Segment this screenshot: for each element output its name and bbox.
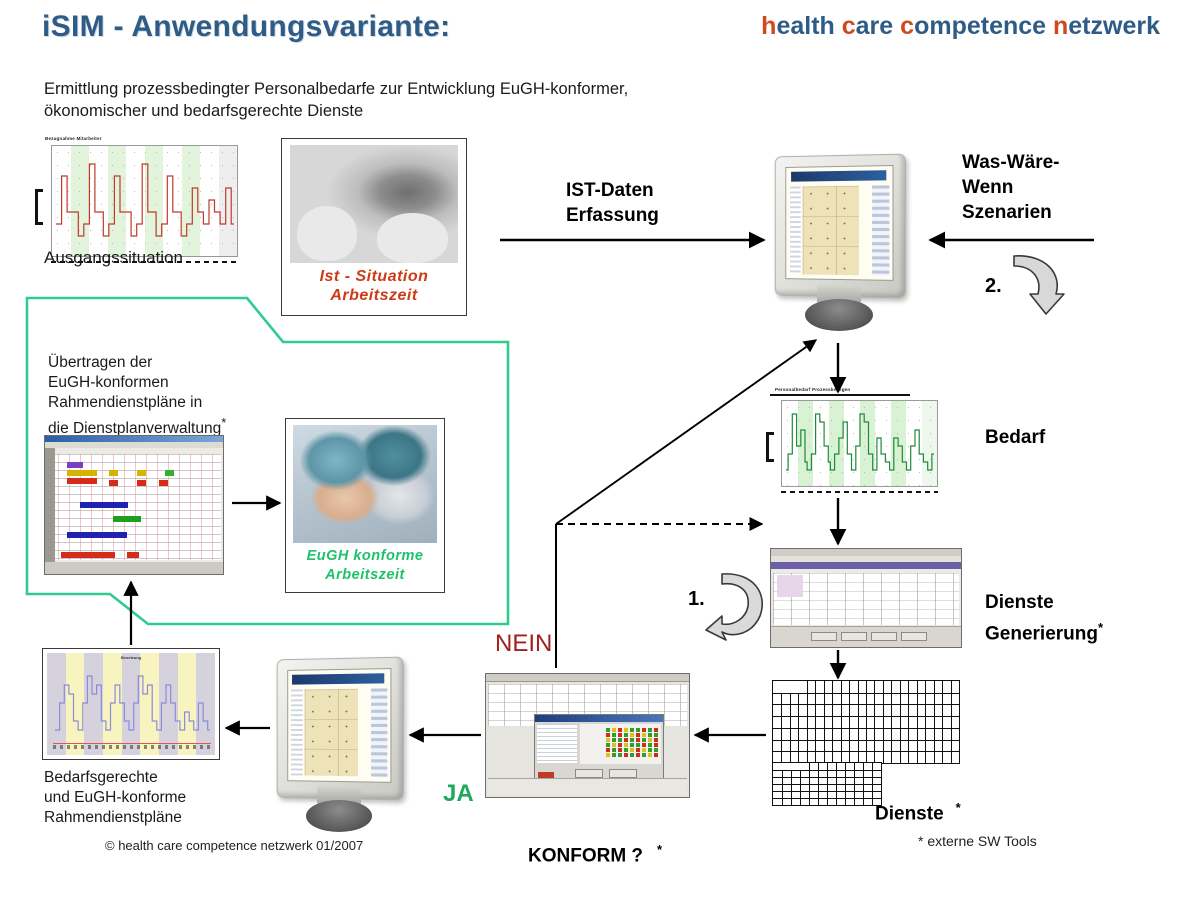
table-col-line [791, 770, 792, 805]
dienste-generierung-asterisk: * [1098, 620, 1103, 635]
table-dienste-block-2 [772, 762, 882, 806]
status-cell [636, 738, 640, 742]
status-cell [636, 753, 640, 757]
table-col-line [827, 763, 828, 805]
table-col-line [908, 681, 909, 763]
brand-word-care: care [842, 12, 893, 40]
chart-ausgangssituation-plot [51, 145, 238, 257]
caption-ist-situation-line2: Arbeitszeit [282, 286, 466, 305]
chart-ausgangssituation-title: Bezugnahme Mitarbeiter [45, 136, 102, 141]
status-cell [642, 748, 646, 752]
status-cell [636, 733, 640, 737]
status-cell [618, 728, 622, 732]
sim-titlebar [791, 171, 886, 183]
gantt-bar [159, 480, 168, 486]
status-cell [624, 748, 628, 752]
monitor-screen [786, 165, 894, 281]
label-ist-daten-erfassung: IST-Daten Erfassung [566, 178, 659, 228]
chart-y-bracket [35, 189, 43, 225]
chart-ausgangssituation-series [52, 146, 237, 256]
status-cell [630, 733, 634, 737]
status-cell [624, 743, 628, 747]
table-col-line [807, 681, 808, 763]
status-cell [642, 733, 646, 737]
label-ja: JA [443, 780, 474, 808]
status-cell [612, 753, 616, 757]
status-cell [624, 733, 628, 737]
caption-ist-situation-line1: Ist - Situation [282, 267, 466, 286]
card-eugh-konforme: EuGH konforme Arbeitszeit [285, 418, 445, 593]
subtitle: Ermittlung prozessbedingter Personalbeda… [44, 78, 628, 122]
monitor-base [805, 299, 874, 331]
status-cell [648, 748, 652, 752]
status-cell [618, 738, 622, 742]
chart-bedarf-toprule [770, 394, 910, 396]
dienstplan-gantt [47, 454, 221, 560]
app-toolbar-purple [771, 562, 961, 569]
status-cell [636, 728, 640, 732]
table-col-line [809, 763, 810, 805]
status-cell [606, 728, 610, 732]
label-dienste-generierung: Dienste Generierung* [985, 565, 1103, 646]
table-col-line [781, 693, 782, 763]
simulation-app-screen [288, 669, 391, 782]
chart-y-bracket [766, 432, 774, 462]
curved-arrow-2 [1000, 248, 1072, 320]
label-dienste: Dienste* [875, 770, 961, 826]
footnote-copyright: © health care competence netzwerk 01/200… [105, 838, 363, 853]
table-col-line [951, 681, 952, 763]
card-ist-situation: Ist - Situation Arbeitszeit [281, 138, 467, 316]
status-cell [654, 733, 658, 737]
chart-rahmen-series [47, 653, 215, 755]
table-col-line [832, 681, 833, 763]
status-cell [624, 738, 628, 742]
label-rahmendienstplaene: Bedarfsgerechte und EuGH-konforme Rahmen… [44, 768, 186, 828]
gantt-bar [67, 470, 97, 476]
konform-status-matrix [606, 728, 659, 757]
status-cell [618, 748, 622, 752]
konform-dialog [534, 714, 664, 782]
chart-rahmen-xticks [53, 745, 211, 749]
app-button-3[interactable] [871, 632, 897, 641]
chart-bedarf-title: Personalbedarf Prozessbezogen [775, 387, 850, 392]
gantt-bar [67, 462, 83, 468]
app-button-1[interactable] [811, 632, 837, 641]
brand-logo: health care competence netzwerk [761, 12, 1160, 41]
label-ausgangssituation: Ausgangssituation [44, 248, 183, 268]
chart-bedarf-plot [781, 400, 938, 487]
status-cell [654, 743, 658, 747]
table-col-line [866, 681, 867, 763]
monitor-simulation-bottom [275, 658, 403, 836]
chart-rahmendienstplaene: Besetzung [42, 648, 220, 760]
dienstplan-menubar [45, 442, 223, 448]
label-bedarf: Bedarf [985, 425, 1045, 450]
chart-line-ist-besetzung [56, 164, 234, 236]
chart-ausgangssituation: Bezugnahme Mitarbeiter [43, 145, 238, 263]
monitor-simulation-top [773, 155, 905, 335]
konform-dialog-titlebar [535, 715, 663, 722]
konform-titlebar [486, 674, 689, 682]
status-cell [654, 748, 658, 752]
page-title: iSIM - Anwendungsvariante: [42, 10, 450, 44]
brand-word-competence: competence [900, 12, 1046, 40]
status-cell [606, 738, 610, 742]
status-cell [606, 733, 610, 737]
status-cell [630, 728, 634, 732]
table-col-line [863, 763, 864, 805]
konform-asterisk: * [657, 842, 662, 857]
status-cell [618, 743, 622, 747]
chart-line-rahmendienstplan [55, 676, 210, 730]
table-col-line [858, 681, 859, 763]
table-col-line [872, 763, 873, 805]
monitor-bezel [775, 154, 906, 299]
table-col-line [818, 763, 819, 805]
sim-rightpanel [371, 688, 388, 777]
chart-x-axis [781, 491, 938, 493]
green-box-text: Übertragen der EuGH-konformen Rahmendien… [48, 333, 298, 439]
table-col-line [836, 763, 837, 805]
gantt-bar [80, 502, 128, 508]
status-cell [636, 743, 640, 747]
status-cell [654, 753, 658, 757]
label-dienste-generierung-text: Dienste Generierung [985, 592, 1098, 644]
app-dienste-generierung [770, 548, 962, 648]
app-highlight-cell [777, 575, 803, 597]
table-col-line [800, 770, 801, 805]
status-cell [624, 728, 628, 732]
table-col-line [841, 681, 842, 763]
konform-statusbar [488, 778, 687, 795]
table-col-line [900, 681, 901, 763]
status-cell [648, 753, 652, 757]
gantt-bar [61, 552, 115, 558]
status-cell [612, 748, 616, 752]
status-cell [606, 743, 610, 747]
table-dienste-block-1 [772, 680, 960, 764]
status-cell [654, 728, 658, 732]
status-cell [624, 753, 628, 757]
table-col-line [849, 681, 850, 763]
sim-canvas [803, 186, 859, 275]
status-cell [612, 733, 616, 737]
app-konform [485, 673, 690, 798]
label-nein: NEIN [495, 630, 552, 658]
status-cell [612, 738, 616, 742]
gantt-bar [67, 478, 97, 484]
simulation-app-screen [787, 166, 893, 280]
caption-ist-situation: Ist - Situation Arbeitszeit [282, 267, 466, 305]
sim-sidebar [291, 689, 302, 776]
status-cell [642, 743, 646, 747]
table-col-line [925, 681, 926, 763]
dienstplan-leftgutter [45, 448, 55, 574]
caption-eugh-konforme: EuGH konforme Arbeitszeit [286, 547, 444, 585]
status-cell [648, 738, 652, 742]
app-button-2[interactable] [841, 632, 867, 641]
monitor-screen [287, 668, 392, 783]
table-col-line [917, 681, 918, 763]
photo-ist-situation [290, 145, 458, 263]
status-cell [648, 733, 652, 737]
status-cell [630, 753, 634, 757]
gantt-bar [113, 516, 141, 522]
status-cell [642, 753, 646, 757]
app-dienstplanverwaltung [44, 435, 224, 575]
table-col-line [934, 681, 935, 763]
table-col-line [942, 681, 943, 763]
dienste-asterisk: * [956, 800, 961, 815]
status-cell [612, 743, 616, 747]
table-col-line [824, 681, 825, 763]
gantt-bar [137, 480, 146, 486]
status-cell [618, 753, 622, 757]
table-col-line [845, 763, 846, 805]
status-cell [642, 728, 646, 732]
label-was-waere-wenn: Was-Wäre- Wenn Szenarien [962, 150, 1059, 225]
status-cell [612, 728, 616, 732]
table-col-line [891, 681, 892, 763]
caption-eugh-line2: Arbeitszeit [286, 566, 444, 585]
status-cell [654, 738, 658, 742]
table-col-line [782, 770, 783, 805]
label-dienste-text: Dienste [875, 803, 944, 824]
chart-line-bedarf [786, 414, 934, 470]
table-col-line [874, 681, 875, 763]
table-col-line [798, 693, 799, 763]
gantt-bar [137, 470, 146, 476]
label-konform-text: KONFORM ? [528, 845, 643, 866]
konform-button-2[interactable] [609, 769, 637, 778]
monitor-base [306, 800, 373, 832]
curved-arrow-1 [700, 566, 772, 644]
status-cell [636, 748, 640, 752]
sim-sidebar [790, 186, 801, 274]
konform-dialog-list [537, 724, 577, 763]
gantt-bar [109, 480, 118, 486]
table-col-line [883, 681, 884, 763]
sim-canvas [304, 688, 358, 776]
status-cell [648, 743, 652, 747]
table-col-line [815, 681, 816, 763]
status-cell [630, 738, 634, 742]
gantt-bar [127, 552, 139, 558]
dienstplan-statusbar [45, 562, 223, 574]
status-cell [642, 738, 646, 742]
gantt-bar [165, 470, 174, 476]
label-konform: KONFORM ?* [528, 812, 662, 868]
status-cell [618, 733, 622, 737]
table-col-line [854, 763, 855, 805]
photo-eugh-konforme [293, 425, 437, 543]
status-cell [630, 748, 634, 752]
status-cell [648, 728, 652, 732]
sim-titlebar [292, 673, 384, 684]
caption-eugh-line1: EuGH konforme [286, 547, 444, 566]
status-cell [630, 743, 634, 747]
status-cell [606, 753, 610, 757]
gantt-bar [67, 532, 127, 538]
status-cell [606, 748, 610, 752]
sim-rightpanel [872, 185, 889, 275]
monitor-bezel [277, 657, 404, 801]
green-box-asterisk: * [221, 415, 226, 430]
chart-rahmen-redline [53, 743, 211, 744]
gantt-bar [109, 470, 118, 476]
app-button-4[interactable] [901, 632, 927, 641]
brand-word-health: health [761, 12, 835, 40]
brand-word-netzwerk: netzwerk [1053, 12, 1160, 40]
footnote-sw-tools: * externe SW Tools [918, 833, 1037, 849]
table-col-line [790, 693, 791, 763]
chart-rahmen-plot: Besetzung [47, 653, 215, 755]
chart-bedarf-series [782, 401, 937, 486]
konform-button-1[interactable] [575, 769, 603, 778]
green-box-text-value: Übertragen der EuGH-konformen Rahmendien… [48, 354, 221, 437]
chart-bedarf: Personalbedarf Prozessbezogen [775, 398, 938, 493]
konform-matrix-panel [580, 724, 661, 764]
